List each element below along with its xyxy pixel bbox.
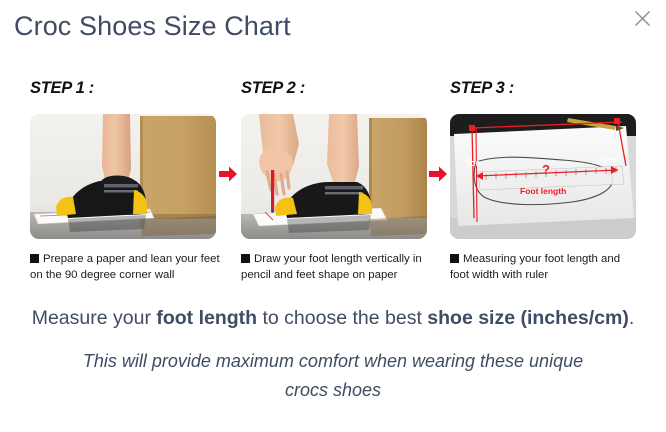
- step-1-illustration: [30, 114, 216, 239]
- step-caption-text-3: Measuring your foot length and foot widt…: [450, 253, 620, 281]
- close-icon: [634, 10, 651, 27]
- step-3-illustration: Toe Heel ? Foot length: [450, 114, 636, 239]
- caption-bullet-icon: [30, 254, 39, 263]
- step-panel-3: STEP 3 :: [450, 78, 647, 286]
- step-label-1: STEP 1 :: [30, 78, 227, 102]
- step-photo-1: [30, 114, 216, 239]
- step-caption-text-2: Draw your foot length vertically in penc…: [241, 253, 422, 281]
- step-caption-text-1: Prepare a paper and lean your feet on th…: [30, 253, 220, 281]
- step3-label-question: ?: [542, 162, 550, 177]
- footer-text-2: to choose the best: [257, 307, 427, 329]
- step-photo-2: [241, 114, 427, 239]
- step3-label-foot-length: Foot length: [520, 186, 566, 196]
- steps-row: STEP 1 :: [0, 78, 666, 286]
- step-label-3: STEP 3 :: [450, 78, 647, 102]
- footer-instruction: Measure your foot length to choose the b…: [0, 305, 666, 331]
- footer-text-3: .: [629, 307, 634, 329]
- arrow-right-icon: [219, 166, 237, 182]
- caption-bullet-icon: [450, 254, 459, 263]
- caption-bullet-icon: [241, 254, 250, 263]
- step3-label-toe: Toe: [465, 158, 480, 168]
- footer-bold-foot-length: foot length: [156, 307, 257, 329]
- step-caption-3: Measuring your foot length and foot widt…: [450, 252, 640, 283]
- step-2-illustration: [241, 114, 427, 239]
- close-button[interactable]: [628, 4, 656, 32]
- step-photo-3: Toe Heel ? Foot length: [450, 114, 636, 239]
- step-panel-1: STEP 1 :: [30, 78, 227, 286]
- step-panel-2: STEP 2 :: [241, 78, 438, 286]
- footer-bold-shoe-size: shoe size (inches/cm): [427, 307, 629, 329]
- step-label-2: STEP 2 :: [241, 78, 438, 102]
- step-caption-1: Prepare a paper and lean your feet on th…: [30, 252, 220, 283]
- step3-label-heel: Heel: [600, 154, 619, 164]
- page-title: Croc Shoes Size Chart: [14, 11, 291, 42]
- footer-text-1: Measure your: [32, 307, 157, 329]
- step-caption-2: Draw your foot length vertically in penc…: [241, 252, 431, 283]
- footer-note: This will provide maximum comfort when w…: [60, 347, 606, 405]
- arrow-right-icon: [429, 166, 447, 182]
